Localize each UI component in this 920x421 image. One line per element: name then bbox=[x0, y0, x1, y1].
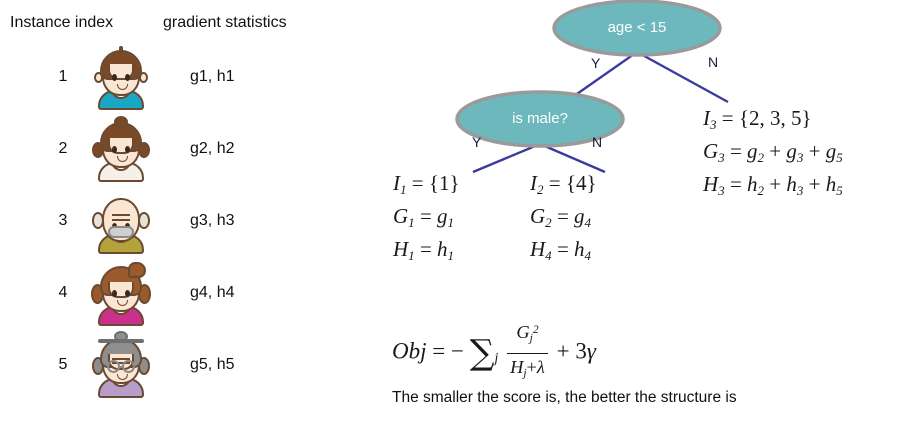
obj-plus: + bbox=[557, 338, 570, 363]
edge-label-root-yes: Y bbox=[591, 55, 600, 71]
table-row: 5 g5, h5 bbox=[0, 330, 340, 402]
leaf-2-stats: I2 = {4} G2 = g4 H4 = h4 bbox=[530, 170, 597, 269]
leaf-3-stats: I3 = {2, 3, 5} G3 = g2 + g3 + g5 H3 = h2… bbox=[703, 105, 843, 204]
obj-minus: − bbox=[451, 338, 464, 363]
table-row: 2 g2, h2 bbox=[0, 114, 340, 186]
edge-label-child-yes: Y bbox=[472, 134, 481, 150]
edge-child-yes bbox=[473, 144, 540, 172]
table-row: 3 g3, h3 bbox=[0, 186, 340, 258]
obj-fraction: Gj2 Hj+λ bbox=[507, 317, 548, 387]
leaf-3-line-H: H3 = h2 + h3 + h5 bbox=[703, 171, 843, 204]
row-gradient-stats: g3, h3 bbox=[190, 212, 234, 230]
avatar bbox=[90, 330, 152, 398]
avatar bbox=[90, 114, 152, 182]
decision-tree-diagram: age < 15 is male? Y N Y N I1 = {1} G1 = … bbox=[340, 0, 920, 421]
caption-text: The smaller the score is, the better the… bbox=[392, 389, 737, 407]
leaf-2-line-H: H4 = h4 bbox=[530, 236, 597, 269]
leaf-3-line-I: I3 = {2, 3, 5} bbox=[703, 105, 843, 138]
tree-node-is-male-label[interactable]: is male? bbox=[457, 110, 623, 127]
leaf-1-line-I: I1 = {1} bbox=[393, 170, 460, 203]
leaf-1-line-G: G1 = g1 bbox=[393, 203, 460, 236]
row-index-label: 3 bbox=[52, 212, 74, 230]
row-index-label: 5 bbox=[52, 356, 74, 374]
obj-sigma: ∑ bbox=[470, 333, 495, 373]
row-index-label: 2 bbox=[52, 140, 74, 158]
leaf-2-line-G: G2 = g4 bbox=[530, 203, 597, 236]
obj-numerator: Gj2 bbox=[507, 317, 548, 353]
table-row: 1 g1, h1 bbox=[0, 42, 340, 114]
avatar bbox=[90, 186, 152, 254]
obj-denominator: Hj+λ bbox=[507, 353, 548, 387]
row-index-label: 4 bbox=[52, 284, 74, 302]
row-gradient-stats: g5, h5 bbox=[190, 356, 234, 374]
avatar bbox=[90, 258, 152, 326]
obj-lhs: Obj bbox=[392, 338, 427, 363]
row-gradient-stats: g4, h4 bbox=[190, 284, 234, 302]
obj-equals: = bbox=[432, 338, 445, 363]
avatar bbox=[90, 42, 152, 110]
row-gradient-stats: g1, h1 bbox=[190, 68, 234, 86]
column-header-gradient-statistics: gradient statistics bbox=[163, 14, 287, 32]
obj-gamma: γ bbox=[587, 338, 596, 363]
row-gradient-stats: g2, h2 bbox=[190, 140, 234, 158]
leaf-1-line-H: H1 = h1 bbox=[393, 236, 460, 269]
table-row: 4 g4, h4 bbox=[0, 258, 340, 330]
tree-node-root-label[interactable]: age < 15 bbox=[554, 19, 720, 36]
leaf-3-line-G: G3 = g2 + g3 + g5 bbox=[703, 138, 843, 171]
objective-function: Obj = − ∑j Gj2 Hj+λ + 3γ bbox=[392, 318, 596, 388]
leaf-1-stats: I1 = {1} G1 = g1 H1 = h1 bbox=[393, 170, 460, 269]
edge-label-child-no: N bbox=[592, 134, 602, 150]
obj-gamma-coeff: 3 bbox=[575, 338, 587, 363]
edge-label-root-no: N bbox=[708, 54, 718, 70]
column-header-instance-index: Instance index bbox=[10, 14, 113, 32]
leaf-2-line-I: I2 = {4} bbox=[530, 170, 597, 203]
row-index-label: 1 bbox=[52, 68, 74, 86]
instance-table: Instance index gradient statistics 1 g1,… bbox=[0, 0, 340, 421]
